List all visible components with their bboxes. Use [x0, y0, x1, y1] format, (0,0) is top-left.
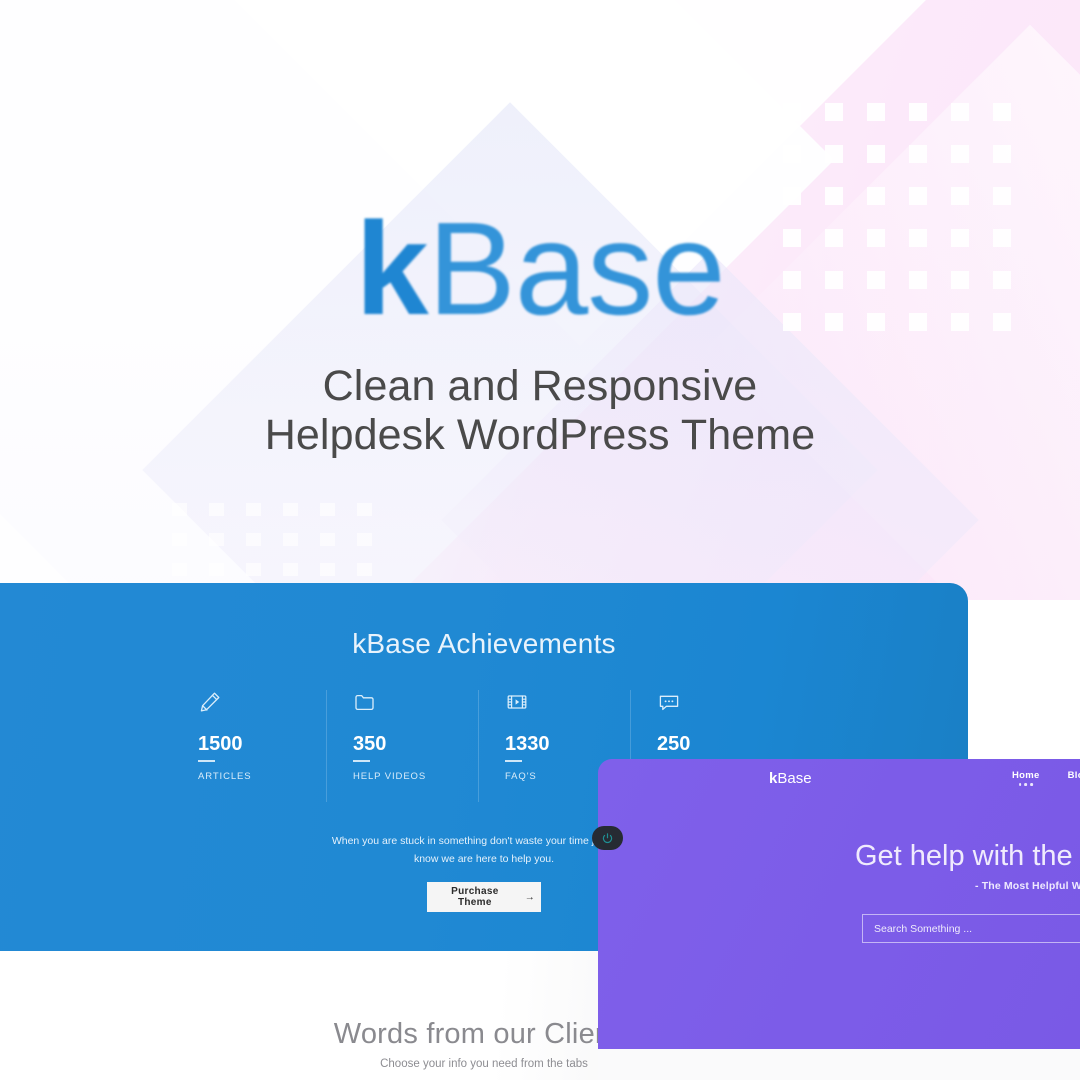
- nav-item-blog[interactable]: Blog: [1068, 770, 1080, 781]
- chat-bubble-icon: [657, 690, 782, 716]
- arrow-right-icon: →: [525, 892, 535, 903]
- stat-item: 350 HELP VIDEOS: [326, 690, 478, 802]
- dot-grid-mid-left: [172, 503, 394, 593]
- browser-preview-panel: [598, 759, 1080, 1049]
- stat-value: 1500: [198, 734, 326, 754]
- browser-preview-headline: Get help with the Adva: [855, 840, 1080, 873]
- nav-item-home[interactable]: Home: [1012, 770, 1040, 781]
- purchase-theme-label: Purchase Theme: [433, 886, 517, 908]
- stat-underline: [505, 760, 522, 762]
- power-icon: [601, 832, 614, 845]
- page-title: Clean and Responsive Helpdesk WordPress …: [0, 362, 1080, 460]
- preview-headline-light: Get help with the: [855, 840, 1080, 872]
- stat-underline: [353, 760, 370, 762]
- pencil-icon: [198, 690, 326, 716]
- purchase-theme-button[interactable]: Purchase Theme →: [427, 882, 541, 912]
- video-icon: [505, 690, 630, 716]
- search-input[interactable]: [862, 914, 1080, 943]
- browser-preview-footer-strip: [598, 1049, 1080, 1080]
- stat-value: 250: [657, 734, 782, 754]
- kbase-logo: kBase: [0, 203, 1080, 335]
- headline-line-2: Helpdesk WordPress Theme: [0, 411, 1080, 460]
- stat-underline: [198, 760, 215, 762]
- power-toggle-button[interactable]: [592, 826, 623, 850]
- nav-item-blog-label: Blog: [1068, 770, 1080, 781]
- folder-icon: [353, 690, 478, 716]
- logo-letter-k: k: [355, 195, 427, 342]
- browser-preview-nav: Home Blog: [1012, 770, 1080, 781]
- stat-value: 1330: [505, 734, 630, 754]
- poster-canvas: kBase Clean and Responsive Helpdesk Word…: [0, 0, 1080, 1080]
- achievements-title: kBase Achievements: [0, 628, 968, 660]
- browser-preview-subtitle: - The Most Helpful Web Ser: [975, 880, 1080, 892]
- logo-word-base: Base: [428, 195, 725, 342]
- stat-item: 1500 ARTICLES: [174, 690, 326, 802]
- nav-item-home-label: Home: [1012, 770, 1040, 781]
- headline-line-1: Clean and Responsive: [0, 362, 1080, 411]
- stat-value: 350: [353, 734, 478, 754]
- preview-logo-word-base: Base: [777, 770, 811, 787]
- stat-label: HELP VIDEOS: [353, 771, 478, 782]
- stat-label: ARTICLES: [198, 771, 326, 782]
- browser-preview-logo[interactable]: kBase: [769, 770, 812, 787]
- nav-active-dots-icon: [1019, 783, 1033, 786]
